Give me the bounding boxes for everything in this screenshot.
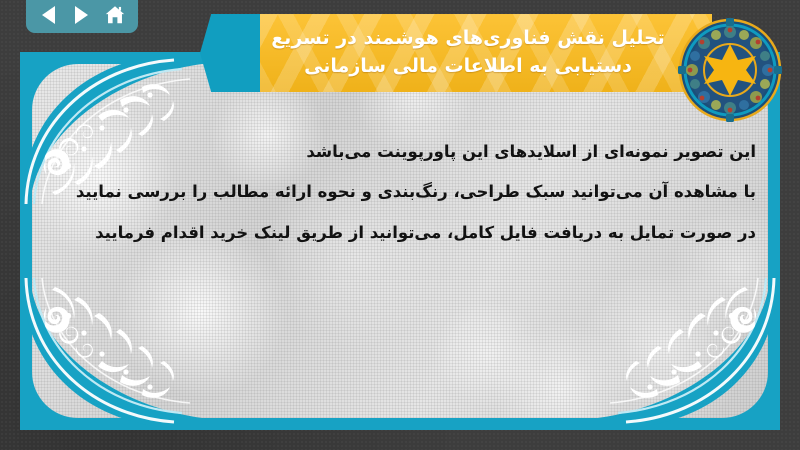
nav-home-button[interactable] — [102, 3, 128, 27]
persian-medallion-icon — [678, 18, 782, 122]
back-arrow-icon — [42, 6, 55, 24]
body-line-2: با مشاهده آن می‌توانید سبک طراحی، رنگ‌بن… — [120, 172, 756, 212]
body-line-1: این تصویر نمونه‌ای از اسلایدهای این پاور… — [120, 132, 756, 172]
presentation-slide: این تصویر نمونه‌ای از اسلایدهای این پاور… — [0, 0, 800, 450]
slide-body-text: این تصویر نمونه‌ای از اسلایدهای این پاور… — [120, 132, 756, 253]
slide-navigation-bar[interactable] — [26, 0, 138, 33]
nav-back-button[interactable] — [36, 3, 62, 27]
forward-arrow-icon — [75, 6, 88, 24]
home-icon — [104, 4, 126, 26]
title-line-2: دستیابی به اطلاعات مالی سازمانی — [304, 53, 632, 81]
title-line-1: تحلیل نقش فناوری‌های هوشمند در تسریع — [271, 25, 665, 53]
body-line-3: در صورت تمایل به دریافت فایل کامل، می‌تو… — [120, 213, 756, 253]
nav-forward-button[interactable] — [69, 3, 95, 27]
